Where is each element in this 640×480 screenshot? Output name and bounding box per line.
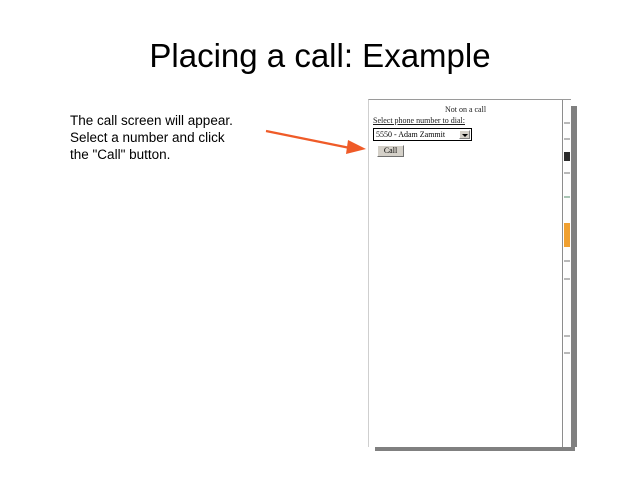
slide-title: Placing a call: Example <box>0 38 640 74</box>
scrollbar-thumb[interactable] <box>564 223 570 247</box>
call-screen-screenshot: Not on a call Select phone number to dia… <box>368 99 571 447</box>
scrollbar-tick <box>564 196 570 198</box>
scrollbar-tick <box>564 260 570 262</box>
slide-body-text: The call screen will appear. Select a nu… <box>70 112 280 163</box>
phone-select-label: Select phone number to dial: <box>373 116 465 125</box>
scrollbar-tick <box>564 152 570 161</box>
body-text-line: the "Call" button. <box>70 146 280 163</box>
call-screen-content: Not on a call Select phone number to dia… <box>369 100 562 447</box>
panel-shadow-right <box>571 106 577 447</box>
panel-scrollbar[interactable] <box>562 100 571 447</box>
body-text-line: The call screen will appear. <box>70 112 280 129</box>
slide-canvas: Placing a call: Example The call screen … <box>0 0 640 480</box>
call-status-text: Not on a call <box>369 105 562 114</box>
arrow-head <box>346 140 366 154</box>
chevron-down-icon[interactable] <box>459 130 470 139</box>
phone-number-select[interactable]: 5550 - Adam Zammit <box>373 128 472 141</box>
scrollbar-tick <box>564 278 570 280</box>
scrollbar-tick <box>564 352 570 354</box>
chevron-down-glyph <box>462 134 468 137</box>
scrollbar-tick <box>564 138 570 140</box>
scrollbar-tick <box>564 172 570 174</box>
scrollbar-tick <box>564 335 570 337</box>
call-button[interactable]: Call <box>377 145 404 157</box>
body-text-line: Select a number and click <box>70 129 280 146</box>
phone-number-select-value: 5550 - Adam Zammit <box>376 130 445 140</box>
scrollbar-tick <box>564 122 570 124</box>
